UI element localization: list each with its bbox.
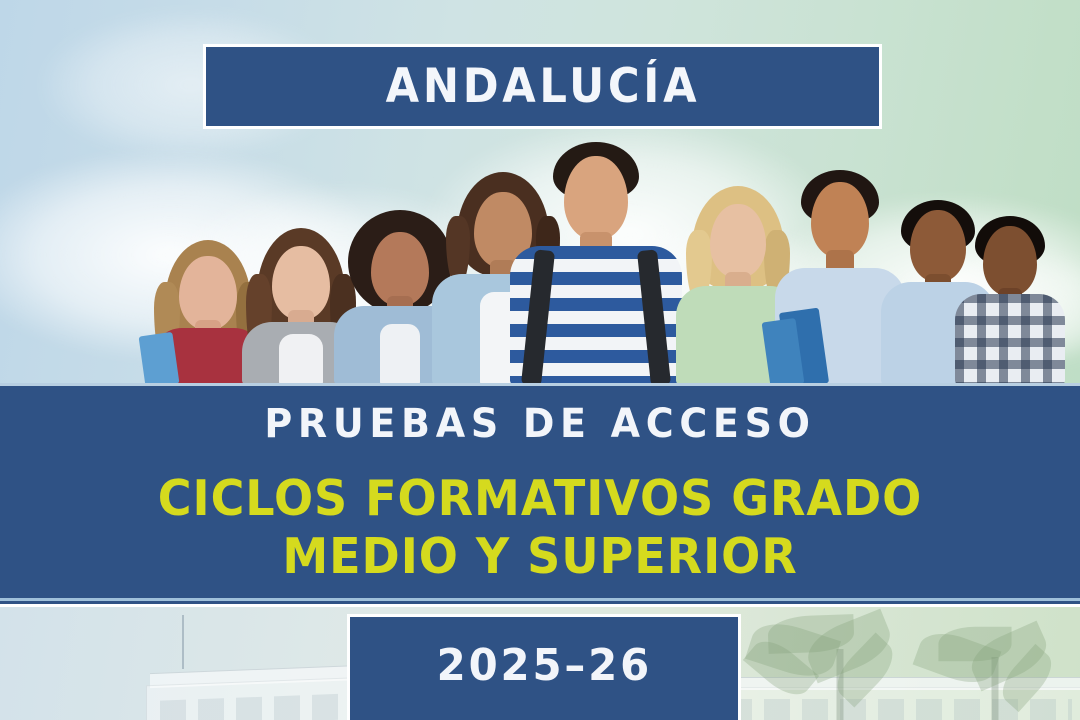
subject-line-1: CICLOS FORMATIVOS GRADO <box>32 470 1047 527</box>
student-5-man-striped-shirt-backpack <box>506 142 686 386</box>
student-9-man-plaid-shirt <box>950 216 1070 386</box>
region-banner: ANDALUCÍA <box>203 44 882 129</box>
antenna-mast <box>182 615 184 669</box>
subject-line-2: MEDIO Y SUPERIOR <box>32 528 1047 585</box>
year-banner: 2025–26 <box>347 614 741 720</box>
palm-tree-icon <box>920 625 1070 720</box>
palm-tree-icon <box>760 613 920 720</box>
main-heading: PRUEBAS DE ACCESO <box>27 401 1053 447</box>
book-icon <box>139 332 180 386</box>
year-banner-label: 2025–26 <box>436 640 651 691</box>
poster-canvas: ANDALUCÍA PRUEBAS DE ACCESO CICLOS FORMA… <box>0 0 1080 720</box>
region-banner-label: ANDALUCÍA <box>385 59 700 114</box>
main-title-band: PRUEBAS DE ACCESO CICLOS FORMATIVOS GRAD… <box>0 383 1080 607</box>
